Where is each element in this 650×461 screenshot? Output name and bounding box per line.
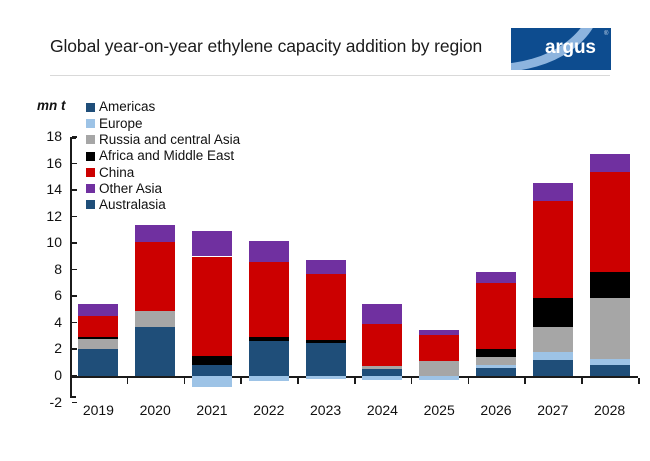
y-axis-unit-label: mn t — [37, 98, 66, 113]
bar-segment[interactable] — [362, 369, 402, 376]
x-axis-tick-label: 2021 — [184, 402, 240, 418]
bar-segment[interactable] — [533, 298, 573, 327]
bar-stack[interactable] — [590, 137, 630, 398]
bar-stack[interactable] — [419, 137, 459, 398]
y-axis-tick-mark — [72, 322, 77, 324]
bar-segment[interactable] — [419, 361, 459, 376]
bar-segment[interactable] — [135, 327, 175, 376]
legend-swatch-icon — [86, 103, 95, 112]
legend-item[interactable]: Americas — [86, 99, 240, 115]
x-axis-tick-label: 2020 — [127, 402, 183, 418]
y-axis-tick-mark — [72, 189, 77, 191]
x-axis-tick-mark — [411, 378, 413, 384]
bar-segment[interactable] — [192, 231, 232, 256]
bar-segment[interactable] — [78, 316, 118, 337]
bar-segment[interactable] — [590, 298, 630, 359]
bar-segment[interactable] — [135, 242, 175, 311]
y-axis-tick-mark — [72, 242, 77, 244]
y-axis-tick-label: 0 — [30, 367, 62, 383]
bar-segment[interactable] — [249, 337, 289, 340]
bar-stack[interactable] — [362, 137, 402, 398]
bar-segment[interactable] — [135, 225, 175, 242]
chart-header: Global year-on-year ethylene capacity ad… — [0, 22, 650, 84]
y-axis-tick-mark — [72, 295, 77, 297]
y-axis-tick-label: 2 — [30, 340, 62, 356]
bar-stack[interactable] — [135, 137, 175, 398]
x-axis-tick-mark — [581, 378, 583, 384]
y-axis-spine — [70, 137, 72, 398]
y-axis-tick-mark — [72, 136, 77, 138]
bar-segment[interactable] — [476, 365, 516, 368]
legend-swatch-icon — [86, 119, 95, 128]
bar-stack[interactable] — [533, 137, 573, 398]
bar-segment[interactable] — [533, 327, 573, 352]
y-axis-tick-label: 8 — [30, 261, 62, 277]
bar-segment[interactable] — [419, 376, 459, 380]
x-axis-tick-label: 2022 — [241, 402, 297, 418]
bar-segment[interactable] — [306, 343, 346, 376]
bar-segment[interactable] — [306, 376, 346, 379]
bar-segment[interactable] — [590, 272, 630, 297]
bar-segment[interactable] — [78, 349, 118, 376]
bar-segment[interactable] — [306, 274, 346, 340]
bar-segment[interactable] — [419, 335, 459, 362]
x-axis-tick-mark — [468, 378, 470, 384]
logo-wordmark: argus — [545, 37, 596, 59]
bar-stack[interactable] — [78, 137, 118, 398]
registered-trademark-icon: ® — [604, 31, 608, 37]
x-axis-tick-label: 2025 — [411, 402, 467, 418]
x-axis-tick-label: 2023 — [298, 402, 354, 418]
bar-segment[interactable] — [590, 359, 630, 365]
y-axis-tick-mark — [72, 216, 77, 218]
bar-segment[interactable] — [306, 340, 346, 343]
bar-segment[interactable] — [249, 341, 289, 376]
bar-segment[interactable] — [362, 376, 402, 380]
bar-segment[interactable] — [476, 349, 516, 357]
y-axis-tick-label: 18 — [30, 128, 62, 144]
x-axis-tick-label: 2019 — [70, 402, 126, 418]
x-axis-tick-label: 2028 — [582, 402, 638, 418]
bar-segment[interactable] — [192, 257, 232, 357]
bar-segment[interactable] — [362, 324, 402, 366]
x-axis-tick-mark — [127, 378, 129, 384]
y-axis-tick-label: 6 — [30, 287, 62, 303]
bar-segment[interactable] — [590, 365, 630, 376]
y-axis-tick-label: 14 — [30, 181, 62, 197]
y-axis-tick-mark — [72, 375, 77, 377]
bar-segment[interactable] — [192, 365, 232, 376]
bar-segment[interactable] — [476, 357, 516, 365]
bar-segment[interactable] — [362, 366, 402, 369]
chart-card: Global year-on-year ethylene capacity ad… — [0, 0, 650, 461]
bar-stack[interactable] — [249, 137, 289, 398]
y-axis-tick-mark — [72, 269, 77, 271]
bar-segment[interactable] — [533, 183, 573, 200]
axis-spine-cap — [70, 396, 76, 398]
bar-segment[interactable] — [476, 368, 516, 376]
bar-segment[interactable] — [249, 376, 289, 381]
bar-segment[interactable] — [192, 376, 232, 387]
y-axis-tick-label: -2 — [30, 394, 62, 410]
x-axis-tick-label: 2027 — [525, 402, 581, 418]
y-axis-tick-mark — [72, 348, 77, 350]
x-axis-tick-mark — [297, 378, 299, 384]
bar-segment[interactable] — [533, 360, 573, 376]
legend-item-label: Americas — [99, 100, 155, 114]
bar-segment[interactable] — [78, 304, 118, 317]
y-axis-tick-label: 16 — [30, 155, 62, 171]
bar-stack[interactable] — [192, 137, 232, 398]
x-axis-tick-mark — [240, 378, 242, 384]
bar-segment[interactable] — [78, 337, 118, 339]
bar-segment[interactable] — [590, 172, 630, 273]
header-divider — [50, 75, 610, 76]
bar-segment[interactable] — [192, 356, 232, 365]
y-axis-tick-mark — [72, 163, 77, 165]
legend-item-label: Europe — [99, 117, 143, 131]
x-axis-tick-label: 2024 — [354, 402, 410, 418]
x-axis-tick-mark — [638, 378, 640, 384]
bar-stack[interactable] — [476, 137, 516, 398]
bar-segment[interactable] — [533, 201, 573, 298]
bar-segment[interactable] — [249, 241, 289, 262]
x-axis-tick-mark — [354, 378, 356, 384]
page-title: Global year-on-year ethylene capacity ad… — [50, 36, 482, 57]
y-axis-tick-label: 10 — [30, 234, 62, 250]
bar-segment[interactable] — [362, 304, 402, 324]
y-axis-tick-label: 12 — [30, 208, 62, 224]
y-axis-tick-label: 4 — [30, 314, 62, 330]
argus-logo: argus ® — [511, 28, 611, 70]
x-axis-tick-mark — [184, 378, 186, 384]
bar-segment[interactable] — [419, 330, 459, 335]
bar-segment[interactable] — [135, 311, 175, 327]
bar-segment[interactable] — [249, 262, 289, 338]
legend-item[interactable]: Europe — [86, 115, 240, 131]
x-axis-tick-mark — [524, 378, 526, 384]
bar-segment[interactable] — [476, 272, 516, 283]
bar-segment[interactable] — [476, 283, 516, 349]
bar-stack[interactable] — [306, 137, 346, 398]
bar-segment[interactable] — [78, 339, 118, 350]
bar-segment[interactable] — [533, 352, 573, 360]
bar-segment[interactable] — [590, 154, 630, 171]
bar-segment[interactable] — [306, 260, 346, 273]
x-axis-tick-label: 2026 — [468, 402, 524, 418]
